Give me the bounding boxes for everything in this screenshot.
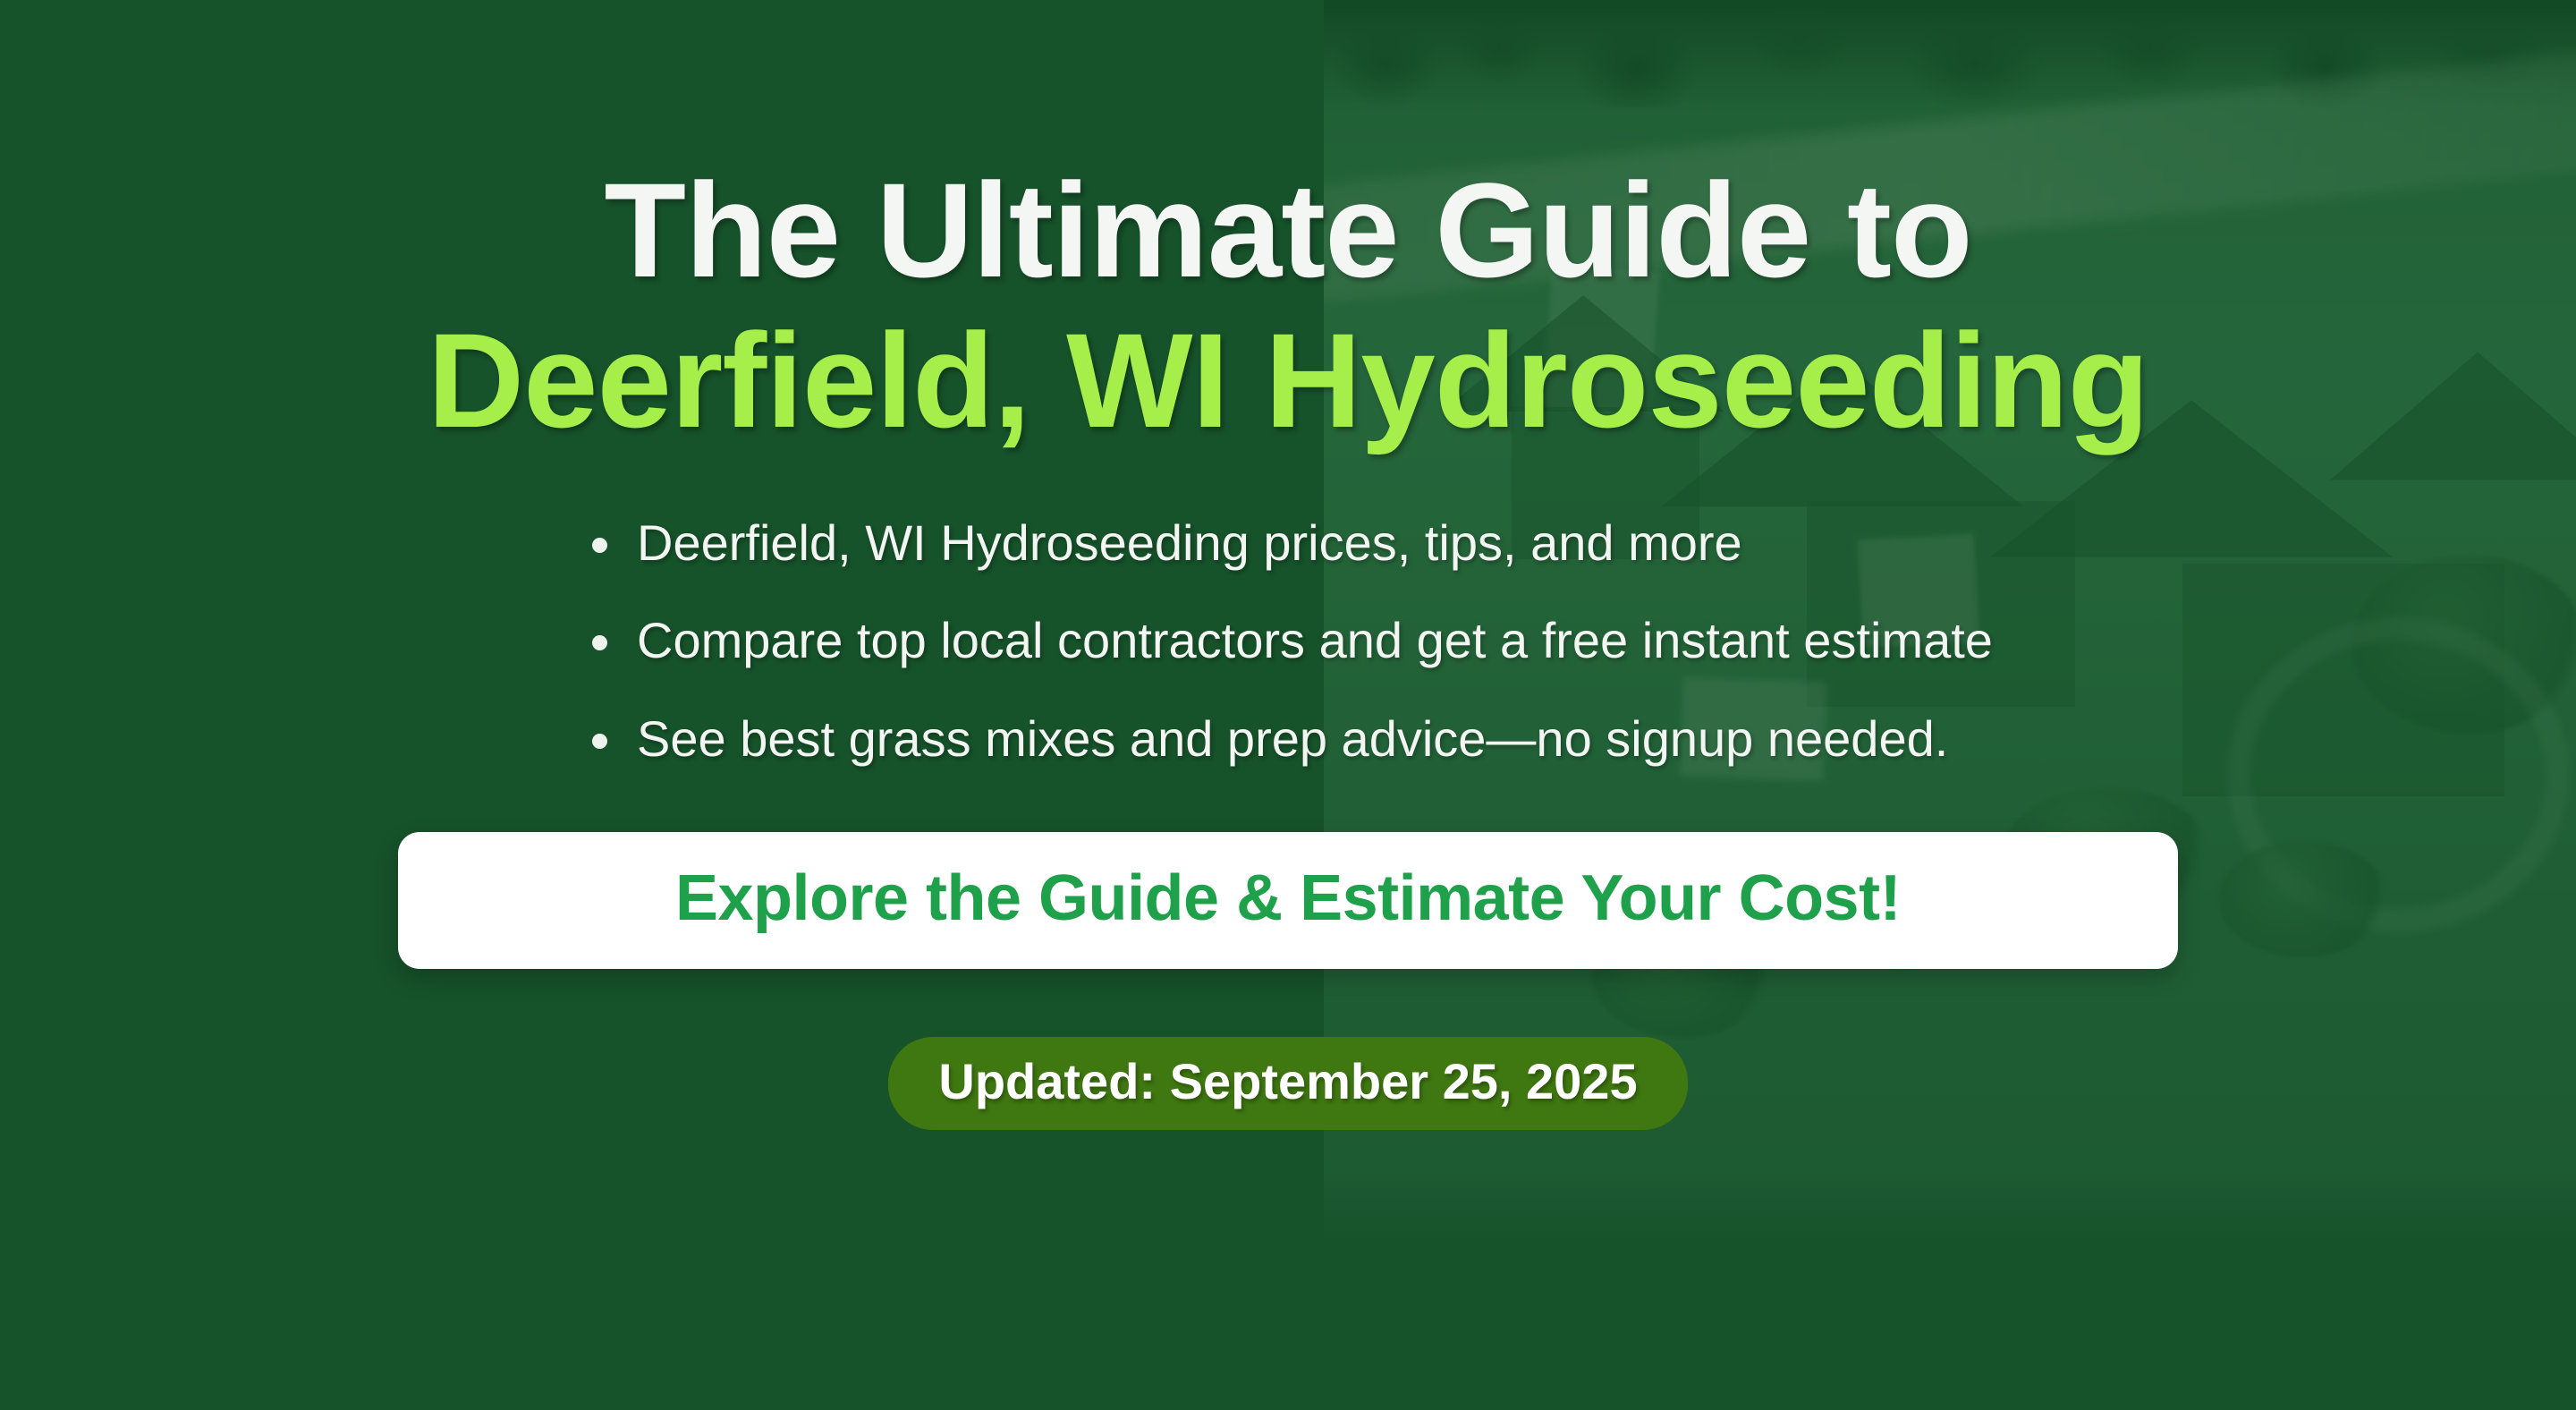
page-title: The Ultimate Guide to Deerfield, WI Hydr… bbox=[0, 0, 2576, 447]
list-item: Compare top local contractors and get a … bbox=[583, 612, 1993, 669]
updated-container: Updated: September 25, 2025 bbox=[0, 1037, 2576, 1130]
cta-container: Explore the Guide & Estimate Your Cost! bbox=[0, 832, 2576, 969]
list-item-label: See best grass mixes and prep advice—no … bbox=[637, 710, 1948, 767]
list-item: Deerfield, WI Hydroseeding prices, tips,… bbox=[583, 514, 1993, 572]
bullet-dot-icon bbox=[592, 635, 607, 650]
headline-line-2: Deerfield, WI Hydroseeding bbox=[0, 313, 2576, 447]
banner-content: The Ultimate Guide to Deerfield, WI Hydr… bbox=[0, 0, 2576, 1410]
hero-banner: The Ultimate Guide to Deerfield, WI Hydr… bbox=[0, 0, 2576, 1410]
list-item-label: Deerfield, WI Hydroseeding prices, tips,… bbox=[637, 514, 1742, 571]
headline-line-1: The Ultimate Guide to bbox=[604, 155, 1971, 305]
list-item: See best grass mixes and prep advice—no … bbox=[583, 710, 1993, 768]
bullet-dot-icon bbox=[592, 734, 607, 749]
list-item-label: Compare top local contractors and get a … bbox=[637, 612, 1993, 668]
explore-guide-button[interactable]: Explore the Guide & Estimate Your Cost! bbox=[398, 832, 2178, 969]
status-badge: Updated: September 25, 2025 bbox=[888, 1037, 1687, 1130]
benefit-list: Deerfield, WI Hydroseeding prices, tips,… bbox=[583, 447, 1993, 768]
bullet-dot-icon bbox=[592, 538, 607, 553]
